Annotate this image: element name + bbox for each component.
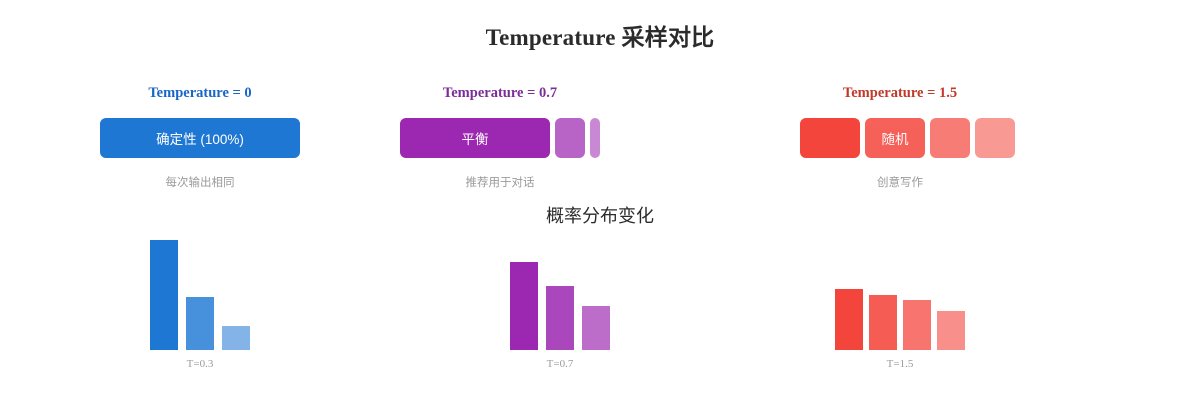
distribution-bar — [903, 300, 931, 350]
bar-group-t15 — [780, 240, 1020, 350]
distribution-bar — [546, 286, 574, 350]
probability-segment-label: 平衡 — [462, 128, 489, 148]
comparison-heading-temp-07: Temperature = 0.7 — [380, 84, 620, 102]
comparison-column-temp-07: Temperature = 0.7 平衡 推荐用于对话 — [380, 84, 620, 190]
distribution-chart-row: T=0.3 T=0.7 T=1.5 — [0, 240, 1200, 380]
bar-group-t03 — [80, 240, 320, 350]
distribution-bar — [150, 240, 178, 350]
distribution-chart-t15: T=1.5 — [780, 240, 1020, 370]
comparison-caption-temp-0: 每次输出相同 — [80, 174, 320, 190]
probability-segment-label: 随机 — [882, 128, 909, 148]
distribution-caption-t07: T=0.7 — [440, 358, 680, 370]
distribution-bar — [835, 289, 863, 350]
segment-track-temp-0: 确定性 (100%) — [100, 118, 300, 158]
distribution-bar — [510, 262, 538, 350]
probability-segment — [930, 118, 970, 158]
probability-segment: 随机 — [865, 118, 925, 158]
distribution-bar — [222, 326, 250, 350]
distribution-chart-t07: T=0.7 — [440, 240, 680, 370]
comparison-heading-temp-0: Temperature = 0 — [80, 84, 320, 102]
page-title: Temperature 采样对比 — [0, 18, 1200, 52]
probability-segment — [555, 118, 585, 158]
comparison-column-temp-15: Temperature = 1.5 随机 创意写作 — [780, 84, 1020, 190]
distribution-bar — [937, 311, 965, 350]
comparison-column-temp-0: Temperature = 0 确定性 (100%) 每次输出相同 — [80, 84, 320, 190]
segment-track-temp-07: 平衡 — [400, 118, 600, 158]
distribution-chart-t03: T=0.3 — [80, 240, 320, 370]
bar-group-t07 — [440, 240, 680, 350]
section-title-distribution: 概率分布变化 — [0, 202, 1200, 228]
segment-track-temp-15: 随机 — [800, 118, 1000, 158]
comparison-caption-temp-07: 推荐用于对话 — [380, 174, 620, 190]
probability-segment — [800, 118, 860, 158]
distribution-bar — [869, 295, 897, 350]
probability-segment — [590, 118, 600, 158]
distribution-bar — [582, 306, 610, 350]
probability-segment: 确定性 (100%) — [100, 118, 300, 158]
distribution-caption-t15: T=1.5 — [780, 358, 1020, 370]
probability-segment-label: 确定性 (100%) — [156, 128, 244, 148]
probability-segment: 平衡 — [400, 118, 550, 158]
comparison-caption-temp-15: 创意写作 — [780, 174, 1020, 190]
temperature-comparison-row: Temperature = 0 确定性 (100%) 每次输出相同 Temper… — [0, 84, 1200, 194]
distribution-caption-t03: T=0.3 — [80, 358, 320, 370]
distribution-bar — [186, 297, 214, 350]
probability-segment — [975, 118, 1015, 158]
comparison-heading-temp-15: Temperature = 1.5 — [780, 84, 1020, 102]
